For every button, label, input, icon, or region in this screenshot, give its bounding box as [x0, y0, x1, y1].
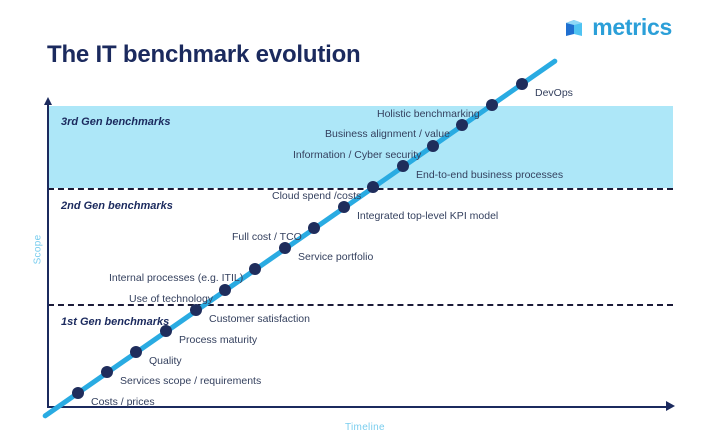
brand-logo: metrics [565, 16, 672, 39]
data-point [219, 284, 231, 296]
data-point-label: Holistic benchmarking [377, 109, 480, 120]
data-point [308, 222, 320, 234]
x-axis-label: Timeline [345, 422, 385, 433]
data-point-label: Service portfolio [298, 252, 373, 263]
data-point [367, 181, 379, 193]
data-point-label: DevOps [535, 88, 573, 99]
plot-area: Scope Timeline 3rd Gen benchmarks 2nd Ge… [45, 104, 673, 408]
logo-text: metrics [592, 16, 672, 39]
data-point [486, 99, 498, 111]
data-point [427, 140, 439, 152]
data-point [160, 325, 172, 337]
data-point [130, 346, 142, 358]
data-point [516, 78, 528, 90]
data-point-label: Information / Cyber security [293, 150, 421, 161]
data-point-label: Customer satisfaction [209, 314, 310, 325]
page-title: The IT benchmark evolution [47, 41, 361, 69]
data-point-label: Use of technology [129, 294, 213, 305]
benchmark-evolution-chart: metrics The IT benchmark evolution Scope… [0, 0, 720, 447]
data-point [397, 160, 409, 172]
data-point-label: Integrated top-level KPI model [357, 211, 498, 222]
data-point-label: Services scope / requirements [120, 376, 261, 387]
data-point-label: Costs / prices [91, 397, 155, 408]
data-point-label: Business alignment / value [325, 129, 450, 140]
data-point-label: Process maturity [179, 335, 257, 346]
data-point [456, 119, 468, 131]
data-point [338, 201, 350, 213]
y-axis-label: Scope [32, 235, 43, 265]
data-point-label: Cloud spend /costs [272, 191, 361, 202]
data-point [249, 263, 261, 275]
data-point [101, 366, 113, 378]
data-point-label: Full cost / TCO [232, 232, 302, 243]
data-point [279, 242, 291, 254]
data-point [72, 387, 84, 399]
data-point-label: Internal processes (e.g. ITIL) [109, 273, 243, 284]
data-point [190, 304, 202, 316]
cube-logo-icon [565, 18, 585, 38]
data-point-label: End-to-end business processes [416, 170, 563, 181]
data-point-label: Quality [149, 356, 182, 367]
